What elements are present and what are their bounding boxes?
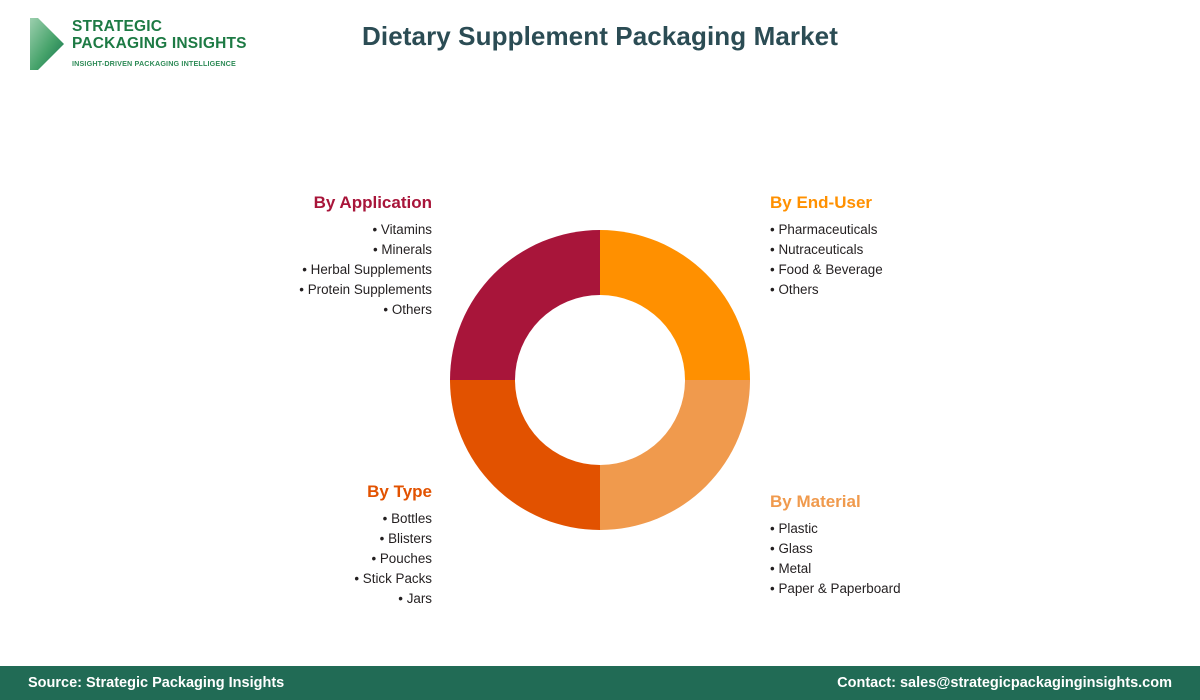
group-material-heading: By Material	[770, 492, 1050, 512]
list-item: • Blisters	[240, 529, 432, 549]
bullet-icon: •	[770, 282, 775, 297]
bullet-icon: •	[770, 561, 775, 576]
list-item-label: Blisters	[388, 531, 432, 546]
list-item: • Others	[220, 300, 432, 320]
list-item: • Pharmaceuticals	[770, 220, 1030, 240]
list-item: • Metal	[770, 559, 1050, 579]
list-item: • Others	[770, 280, 1030, 300]
footer-source: Source: Strategic Packaging Insights	[28, 675, 284, 691]
group-enduser-list: • Pharmaceuticals • Nutraceuticals • Foo…	[770, 220, 1030, 300]
bullet-icon: •	[302, 262, 307, 277]
group-material-list: • Plastic • Glass • Metal • Paper & Pape…	[770, 519, 1050, 599]
logo-tagline: INSIGHT-DRIVEN PACKAGING INTELLIGENCE	[72, 59, 247, 68]
list-item-label: Stick Packs	[363, 571, 432, 586]
list-item-label: Metal	[778, 561, 811, 576]
list-item-label: Others	[778, 282, 818, 297]
bullet-icon: •	[299, 282, 304, 297]
infographic-page: STRATEGIC PACKAGING INSIGHTS INSIGHT-DRI…	[0, 0, 1200, 700]
bullet-icon: •	[372, 222, 377, 237]
list-item: • Jars	[240, 589, 432, 609]
group-material: By Material • Plastic • Glass • Metal • …	[770, 492, 1050, 599]
bullet-icon: •	[371, 551, 376, 566]
footer-contact[interactable]: Contact: sales@strategicpackaginginsight…	[837, 675, 1172, 691]
list-item-label: Others	[392, 302, 432, 317]
bullet-icon: •	[354, 571, 359, 586]
group-type-list: • Bottles • Blisters • Pouches • Stick P…	[240, 509, 432, 609]
donut-chart	[450, 230, 750, 530]
list-item: • Glass	[770, 539, 1050, 559]
bullet-icon: •	[770, 242, 775, 257]
list-item-label: Minerals	[381, 242, 432, 257]
list-item: • Paper & Paperboard	[770, 579, 1050, 599]
list-item: • Stick Packs	[240, 569, 432, 589]
list-item: • Herbal Supplements	[220, 260, 432, 280]
group-enduser: By End-User • Pharmaceuticals • Nutraceu…	[770, 193, 1030, 300]
list-item: • Pouches	[240, 549, 432, 569]
list-item: • Bottles	[240, 509, 432, 529]
group-enduser-heading: By End-User	[770, 193, 1030, 213]
bullet-icon: •	[380, 531, 385, 546]
list-item-label: Food & Beverage	[778, 262, 882, 277]
group-application: By Application • Vitamins • Minerals • H…	[220, 193, 432, 320]
bullet-icon: •	[770, 521, 775, 536]
page-title: Dietary Supplement Packaging Market	[0, 21, 1200, 52]
list-item-label: Vitamins	[381, 222, 432, 237]
bullet-icon: •	[770, 262, 775, 277]
list-item: • Plastic	[770, 519, 1050, 539]
list-item: • Nutraceuticals	[770, 240, 1030, 260]
group-application-heading: By Application	[220, 193, 432, 213]
donut-chart-svg	[450, 230, 750, 530]
bullet-icon: •	[383, 511, 388, 526]
list-item-label: Plastic	[778, 521, 817, 536]
group-application-list: • Vitamins • Minerals • Herbal Supplemen…	[220, 220, 432, 320]
group-type-heading: By Type	[240, 482, 432, 502]
footer-bar: Source: Strategic Packaging Insights Con…	[0, 666, 1200, 700]
list-item: • Food & Beverage	[770, 260, 1030, 280]
bullet-icon: •	[383, 302, 388, 317]
list-item-label: Bottles	[391, 511, 432, 526]
list-item-label: Glass	[778, 541, 812, 556]
list-item: • Minerals	[220, 240, 432, 260]
bullet-icon: •	[770, 222, 775, 237]
list-item-label: Jars	[407, 591, 432, 606]
list-item-label: Paper & Paperboard	[778, 581, 900, 596]
list-item-label: Protein Supplements	[308, 282, 432, 297]
group-type: By Type • Bottles • Blisters • Pouches •…	[240, 482, 432, 609]
bullet-icon: •	[373, 242, 378, 257]
list-item: • Vitamins	[220, 220, 432, 240]
list-item-label: Herbal Supplements	[311, 262, 432, 277]
list-item: • Protein Supplements	[220, 280, 432, 300]
list-item-label: Nutraceuticals	[778, 242, 863, 257]
list-item-label: Pharmaceuticals	[778, 222, 877, 237]
bullet-icon: •	[770, 541, 775, 556]
donut-center-hole	[515, 295, 685, 465]
bullet-icon: •	[398, 591, 403, 606]
bullet-icon: •	[770, 581, 775, 596]
list-item-label: Pouches	[380, 551, 432, 566]
